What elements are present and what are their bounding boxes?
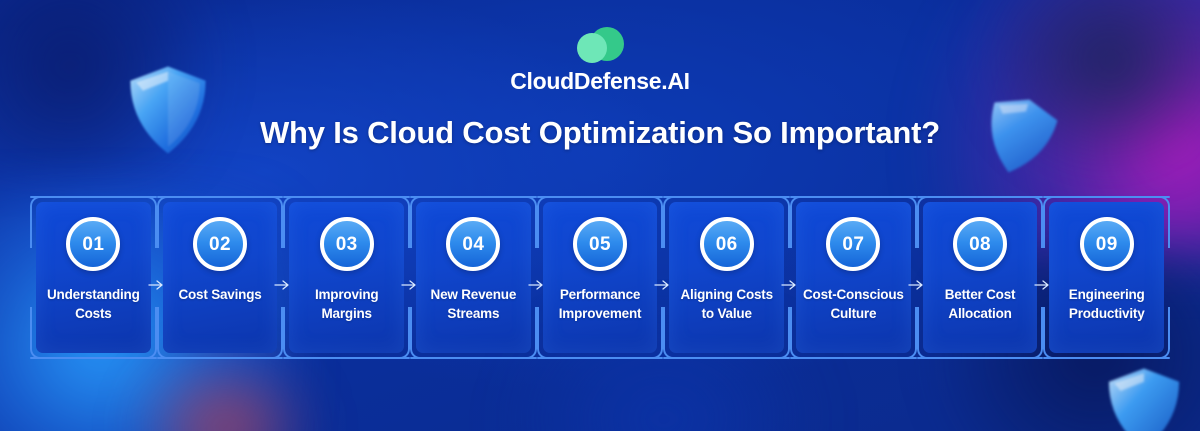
step-number-badge: 05 (573, 217, 627, 271)
step-label: Better Cost Allocation (923, 285, 1038, 323)
step-number: 02 (209, 235, 231, 254)
step-card[interactable]: 05 Performance Improvement (537, 196, 664, 359)
step-number: 01 (82, 235, 104, 254)
step-number-badge: 01 (66, 217, 120, 271)
step-number-badge: 03 (320, 217, 374, 271)
card-panel: 02 Cost Savings (163, 202, 278, 353)
step-card[interactable]: 03 Improving Margins (283, 196, 410, 359)
step-number-badge: 08 (953, 217, 1007, 271)
step-number: 06 (716, 235, 738, 254)
card-panel: 09 Engineering Productivity (1049, 202, 1164, 353)
step-number-badge: 09 (1080, 217, 1134, 271)
step-card[interactable]: 08 Better Cost Allocation (917, 196, 1044, 359)
step-number: 08 (969, 235, 991, 254)
step-card[interactable]: 01 Understanding Costs (30, 196, 157, 359)
shield-icon (1105, 366, 1183, 431)
background-glow-red (130, 351, 320, 431)
step-number-badge: 04 (446, 217, 500, 271)
step-card[interactable]: 02 Cost Savings (157, 196, 284, 359)
step-number-badge: 06 (700, 217, 754, 271)
card-panel: 06 Aligning Costs to Value (669, 202, 784, 353)
step-number: 09 (1096, 235, 1118, 254)
step-label: Performance Improvement (543, 285, 658, 323)
card-panel: 04 New Revenue Streams (416, 202, 531, 353)
step-number: 05 (589, 235, 611, 254)
step-card[interactable]: 07 Cost-Conscious Culture (790, 196, 917, 359)
step-number-badge: 02 (193, 217, 247, 271)
cloud-logo-icon (571, 24, 629, 64)
step-card[interactable]: 09 Engineering Productivity (1043, 196, 1170, 359)
steps-row: 01 Understanding Costs 02 Cost Savings (30, 196, 1170, 359)
card-panel: 03 Improving Margins (289, 202, 404, 353)
page-title: Why Is Cloud Cost Optimization So Import… (0, 115, 1200, 151)
step-card[interactable]: 04 New Revenue Streams (410, 196, 537, 359)
step-number: 03 (336, 235, 358, 254)
step-label: Improving Margins (289, 285, 404, 323)
header: CloudDefense.AI Why Is Cloud Cost Optimi… (0, 24, 1200, 151)
step-card[interactable]: 06 Aligning Costs to Value (663, 196, 790, 359)
brand-name: CloudDefense.AI (0, 70, 1200, 93)
step-number: 04 (462, 235, 484, 254)
step-label: Engineering Productivity (1049, 285, 1164, 323)
card-panel: 05 Performance Improvement (543, 202, 658, 353)
card-panel: 08 Better Cost Allocation (923, 202, 1038, 353)
card-panel: 01 Understanding Costs (36, 202, 151, 353)
card-panel: 07 Cost-Conscious Culture (796, 202, 911, 353)
step-label: Understanding Costs (36, 285, 151, 323)
step-number: 07 (842, 235, 864, 254)
step-label: Aligning Costs to Value (669, 285, 784, 323)
step-label: Cost Savings (174, 285, 265, 304)
step-label: Cost-Conscious Culture (796, 285, 911, 323)
step-number-badge: 07 (826, 217, 880, 271)
infographic-canvas: CloudDefense.AI Why Is Cloud Cost Optimi… (0, 0, 1200, 431)
step-label: New Revenue Streams (416, 285, 531, 323)
